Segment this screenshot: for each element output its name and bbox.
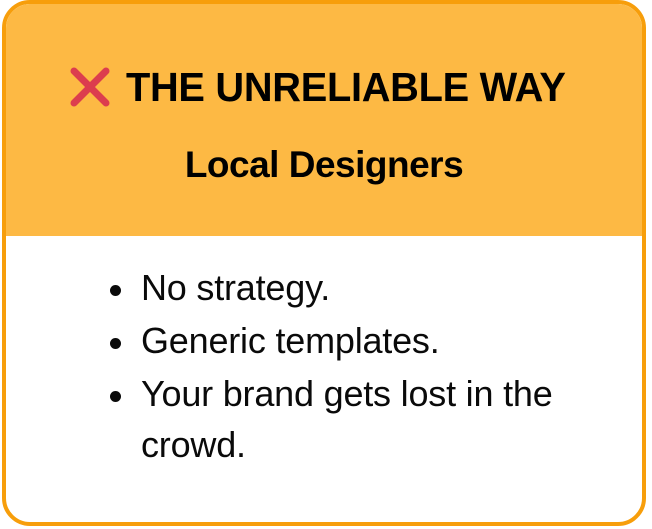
list-item: Generic templates. — [107, 315, 602, 366]
card-header: THE UNRELIABLE WAY Local Designers — [6, 4, 642, 236]
list-item: Your brand gets lost in the crowd. — [107, 368, 581, 470]
card-subtitle: Local Designers — [185, 143, 463, 187]
unreliable-way-card: THE UNRELIABLE WAY Local Designers No st… — [2, 0, 646, 526]
card-header-title-row: THE UNRELIABLE WAY — [6, 65, 642, 109]
red-x-icon — [68, 65, 112, 109]
card-title: THE UNRELIABLE WAY — [126, 65, 566, 109]
card-body: No strategy. Generic templates. Your bra… — [6, 236, 642, 470]
list-item: No strategy. — [107, 262, 602, 313]
drawback-list: No strategy. Generic templates. Your bra… — [107, 262, 602, 470]
